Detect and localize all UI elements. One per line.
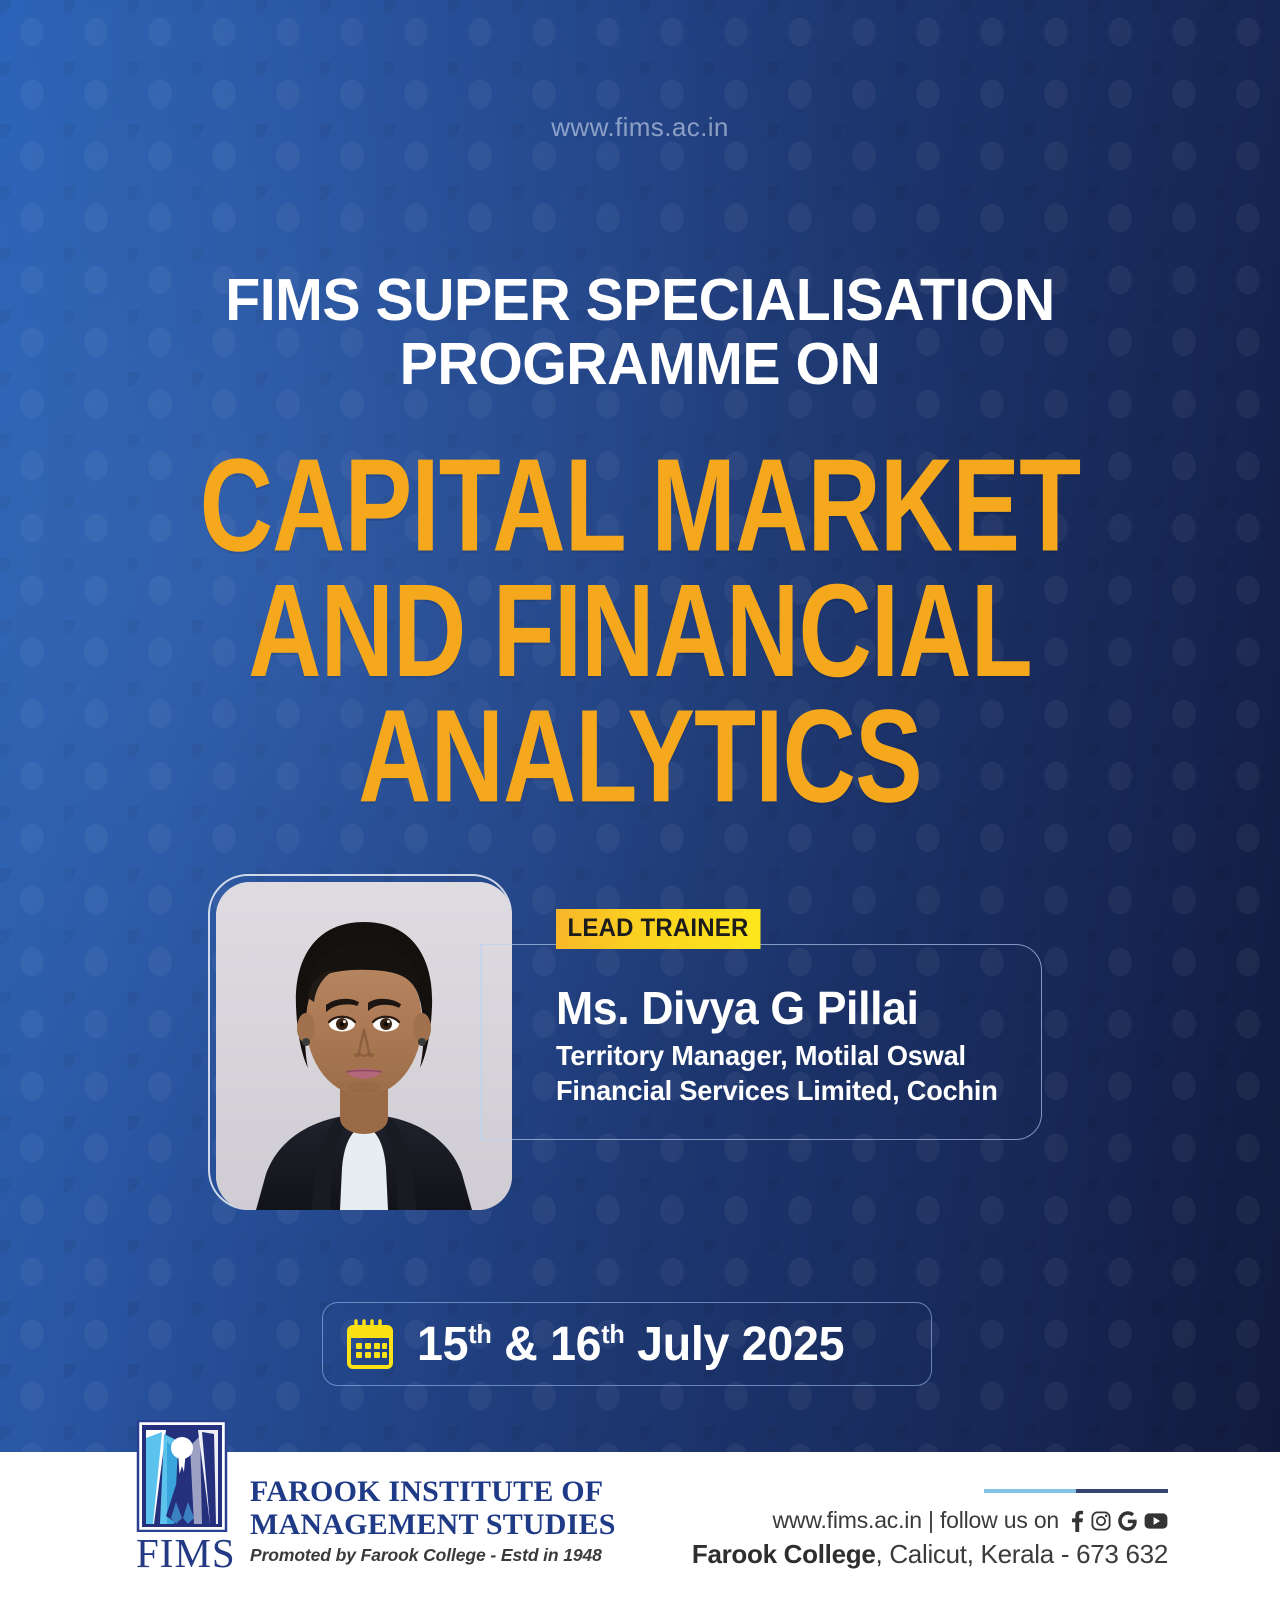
footer-website-text: www.fims.ac.in | follow us on xyxy=(773,1507,1060,1534)
google-icon[interactable] xyxy=(1118,1511,1137,1531)
footer-divider xyxy=(692,1489,1168,1493)
trainer-role: Territory Manager, Motilal Oswal Financi… xyxy=(556,1038,1041,1109)
instagram-icon[interactable] xyxy=(1091,1511,1111,1531)
social-icons-group xyxy=(1070,1510,1168,1532)
calendar-icon xyxy=(345,1318,395,1370)
institute-name-block: FAROOK INSTITUTE OF MANAGEMENT STUDIES P… xyxy=(250,1475,616,1572)
trainer-photo-frame xyxy=(216,882,512,1210)
top-website-url: www.fims.ac.in xyxy=(0,112,1280,143)
fims-shield-icon xyxy=(136,1420,228,1532)
divider-segment-dark xyxy=(1076,1489,1168,1493)
fims-abbr: FIMS xyxy=(136,1533,228,1574)
programme-heading: FIMS SUPER SPECIALISATION PROGRAMME ON xyxy=(19,268,1261,397)
heading-line-1: FIMS SUPER SPECIALISATION xyxy=(225,267,1054,333)
footer-address-rest: , Calicut, Kerala - 673 632 xyxy=(875,1539,1168,1569)
programme-title: CAPITAL MARKET AND FINANCIAL ANALYTICS xyxy=(90,443,1191,820)
youtube-icon[interactable] xyxy=(1144,1512,1168,1530)
portrait-illustration xyxy=(216,882,512,1210)
institute-logo-block: FIMS FAROOK INSTITUTE OF MANAGEMENT STUD… xyxy=(136,1420,616,1572)
date-separator: & xyxy=(491,1318,550,1371)
trainer-role-line-2: Financial Services Limited, Cochin xyxy=(556,1073,1041,1108)
institute-tagline: Promoted by Farook College - Estd in 194… xyxy=(250,1545,616,1566)
footer-contact-block: www.fims.ac.in | follow us on xyxy=(692,1489,1168,1570)
fims-logo-mark: FIMS xyxy=(136,1420,228,1572)
facebook-icon[interactable] xyxy=(1070,1510,1084,1532)
date-day-2: 16 xyxy=(550,1318,601,1371)
trainer-details: Ms. Divya G Pillai Territory Manager, Mo… xyxy=(556,984,1056,1108)
institute-name-line-2: MANAGEMENT STUDIES xyxy=(250,1508,616,1542)
title-line-3: ANALYTICS xyxy=(90,694,1191,820)
heading-line-2: PROGRAMME ON xyxy=(19,332,1261,396)
trainer-role-line-1: Territory Manager, Motilal Oswal xyxy=(556,1038,1041,1073)
footer-bar: FIMS FAROOK INSTITUTE OF MANAGEMENT STUD… xyxy=(0,1452,1280,1600)
trainer-name: Ms. Divya G Pillai xyxy=(556,984,1041,1034)
footer-website-line: www.fims.ac.in | follow us on xyxy=(692,1507,1168,1534)
avatar xyxy=(216,882,512,1210)
footer-address-line: Farook College, Calicut, Kerala - 673 63… xyxy=(692,1539,1168,1570)
date-day-2-suffix: th xyxy=(601,1319,624,1349)
status-badge: LEAD TRAINER xyxy=(556,909,760,949)
date-month-year: July 2025 xyxy=(625,1318,845,1371)
institute-name-line-1: FAROOK INSTITUTE OF xyxy=(250,1475,616,1509)
event-date-text: 15th & 16th July 2025 xyxy=(417,1317,844,1372)
footer-address-bold: Farook College xyxy=(692,1539,876,1569)
poster-root: www.fims.ac.in FIMS SUPER SPECIALISATION… xyxy=(0,0,1280,1600)
divider-segment-light xyxy=(984,1489,1076,1493)
title-line-2: AND FINANCIAL xyxy=(90,569,1191,695)
date-day-1: 15 xyxy=(417,1318,468,1371)
event-date-bar: 15th & 16th July 2025 xyxy=(322,1302,932,1386)
title-line-1: CAPITAL MARKET xyxy=(90,443,1191,569)
date-day-1-suffix: th xyxy=(468,1319,491,1349)
